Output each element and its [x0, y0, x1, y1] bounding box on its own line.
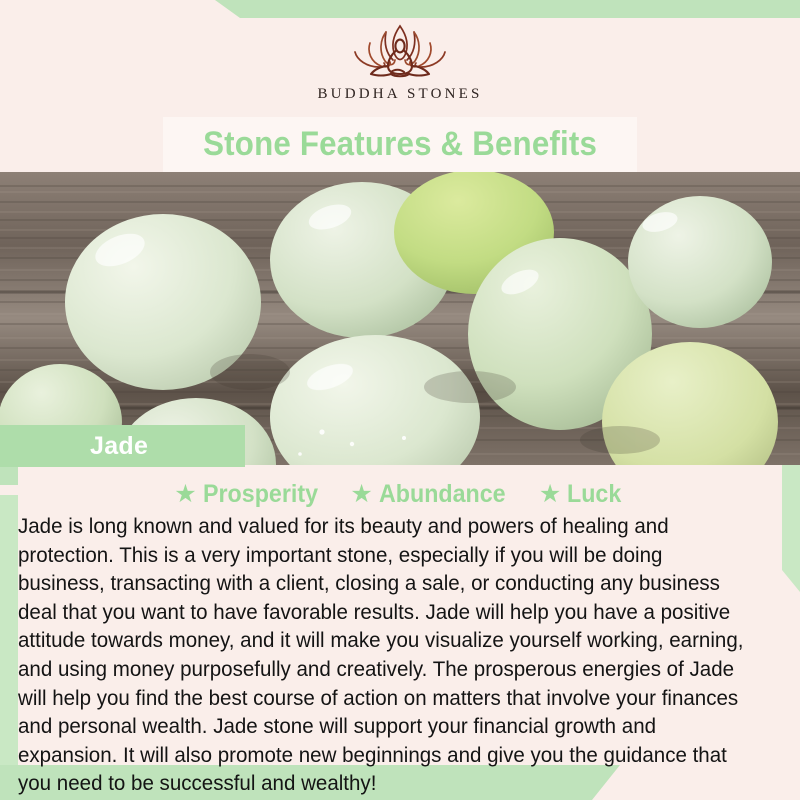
benefit-item: ★ Prosperity [174, 480, 326, 509]
stone-name-band: Jade [0, 425, 245, 467]
section-title-band: Stone Features & Benefits [163, 117, 637, 172]
star-icon: ★ [539, 482, 561, 507]
brand-name: BUDDHA STONES [317, 86, 482, 103]
infographic-page: BUDDHA STONES Stone Features & Benefits [0, 0, 800, 800]
benefits-row: ★ Prosperity ★ Abundance ★ Luck [0, 478, 800, 510]
star-icon: ★ [174, 482, 196, 507]
stone-photo-image [0, 172, 800, 465]
decor-green-left-strip [0, 495, 18, 765]
page-title: Stone Features & Benefits [203, 125, 597, 164]
lotus-meditation-icon [325, 22, 475, 82]
benefit-item: ★ Abundance [350, 480, 515, 509]
benefit-item: ★ Luck [539, 480, 626, 509]
benefit-label: Abundance [379, 480, 506, 509]
star-icon: ★ [350, 482, 372, 507]
benefit-label: Luck [567, 480, 621, 509]
benefit-label: Prosperity [203, 480, 318, 509]
stone-name: Jade [90, 432, 148, 461]
stone-description: Jade is long known and valued for its be… [18, 512, 750, 798]
brand-header: BUDDHA STONES [0, 0, 800, 117]
stone-photo [0, 172, 800, 465]
